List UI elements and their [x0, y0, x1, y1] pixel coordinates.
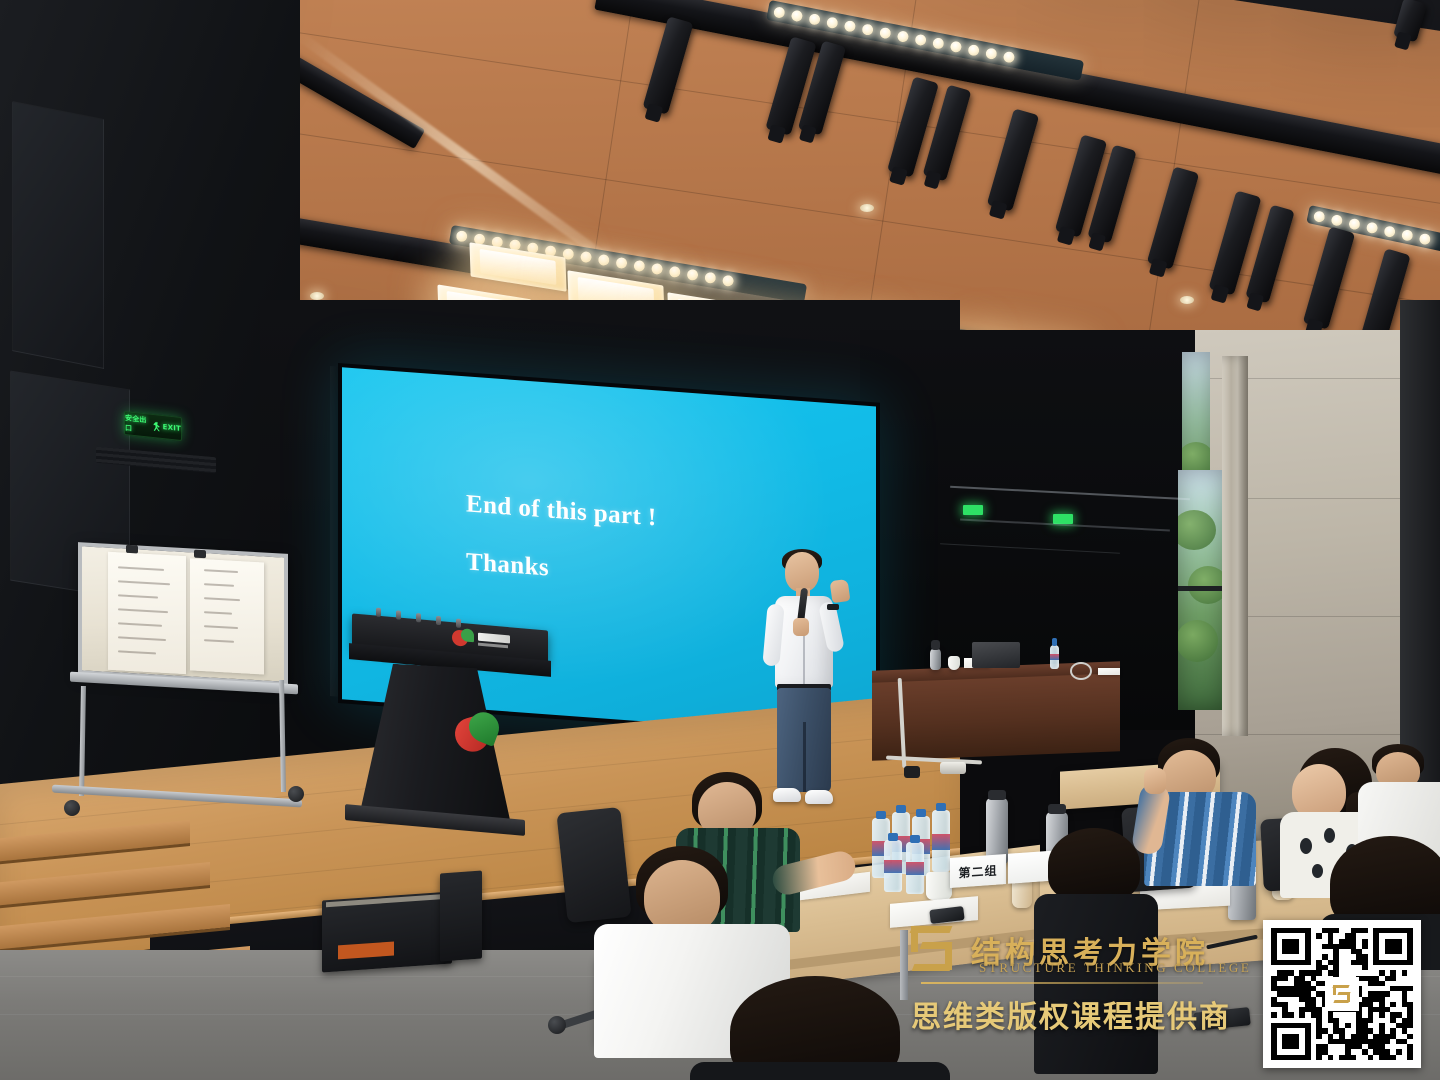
flipchart-sheet [190, 558, 264, 674]
exit-sign-text-cn: 安全出口 [125, 413, 151, 436]
exit-sign-text-en: EXIT [163, 423, 181, 433]
audience-head [644, 860, 720, 934]
stage-step [0, 862, 210, 908]
audience-hair [1048, 828, 1140, 902]
whiteboard-clip [194, 550, 206, 559]
podium-front-logo [455, 711, 503, 762]
whiteboard-wheel [288, 786, 304, 802]
water-bottle [932, 810, 950, 872]
presenter-shoe-right [805, 790, 833, 804]
whiteboard [78, 542, 288, 686]
qr-logo-mark-icon [1331, 983, 1353, 1005]
stage-cable-plug [904, 766, 920, 778]
water-bottle [906, 842, 924, 894]
slide-heading-line-2: Thanks [466, 548, 549, 582]
tea-cup-with-lid [926, 872, 952, 900]
ceiling-downlight [860, 204, 874, 212]
presenter-leg-gap [803, 722, 806, 792]
presenter-head [785, 552, 819, 592]
qr-center-logo [1325, 977, 1359, 1011]
window-mullion [1178, 586, 1226, 591]
running-man-icon [153, 422, 160, 432]
equipment-case-small [440, 871, 482, 962]
audience-member-blue-polo [1136, 738, 1256, 886]
audience-member-foreground [700, 976, 940, 1080]
wall-left-panel [12, 101, 104, 369]
qr-code[interactable] [1263, 920, 1421, 1068]
water-bottle [884, 840, 902, 892]
table-tent-card-label: 第二组 [958, 861, 997, 881]
counter-cup [948, 656, 960, 670]
conference-hall-photo: 安全出口 EXIT End of this part ! Thanks 28 [0, 0, 1440, 1080]
chair-wheel [548, 1016, 566, 1034]
stage-step [0, 820, 190, 864]
audience-hand [1144, 768, 1166, 794]
stage-counter [872, 673, 1120, 761]
equipment-case [322, 891, 452, 972]
exit-sign-small-right-2 [1053, 514, 1073, 524]
audience-torso [690, 1062, 950, 1080]
stage-step [0, 904, 230, 952]
audience-member-partial-left [1040, 828, 1150, 1068]
counter-item [1098, 668, 1120, 675]
counter-monitor [972, 642, 1020, 668]
presenter-raised-hand [830, 579, 851, 603]
stage-cable-connector [940, 762, 966, 774]
whiteboard-clip [126, 545, 138, 554]
counter-cable-loop [1070, 662, 1092, 680]
blouse-pattern-dot [1312, 864, 1323, 878]
flipchart-sheet [108, 552, 186, 674]
ceiling-downlight [310, 292, 324, 300]
exit-sign-small-right-1 [963, 505, 983, 515]
ceiling-downlight [1180, 296, 1194, 304]
counter-water-bottle [1050, 645, 1059, 669]
audience-torso [1034, 894, 1158, 1074]
table-tent-card: 第二组 [950, 854, 1006, 888]
blouse-pattern-dot [1300, 838, 1312, 854]
wristwatch [827, 604, 839, 610]
counter-thermos-flask [930, 648, 941, 670]
curtain-right [1222, 356, 1248, 736]
whiteboard-wheel [64, 800, 80, 816]
presenter-mic-hand [793, 618, 809, 636]
